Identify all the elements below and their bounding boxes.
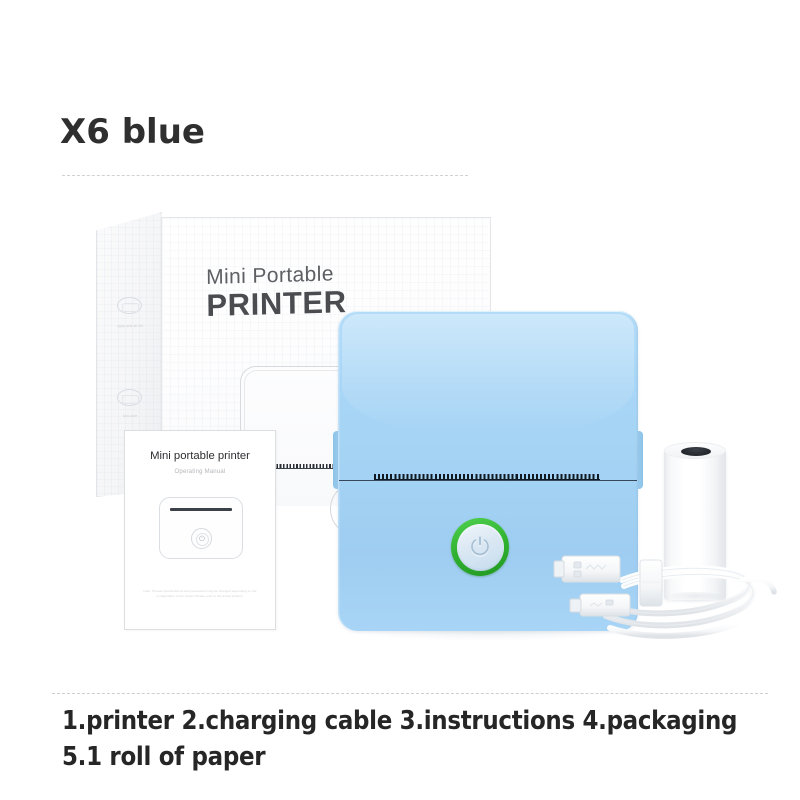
printer-lid-seam — [339, 480, 637, 481]
box-feature-badge-icon — [117, 389, 142, 406]
manual-printer-illustration: ⏻ — [159, 497, 243, 559]
paper-roll-core-hole — [681, 447, 711, 456]
usb-charging-cable — [546, 542, 778, 642]
power-button-face: ⏻ — [457, 524, 504, 571]
page-title: X6 blue — [60, 112, 205, 152]
manual-title: Mini portable printer — [125, 450, 275, 462]
cable-drawing — [546, 542, 778, 642]
micro-usb-connector — [570, 594, 630, 616]
manual-subtitle: Operating Manual — [125, 469, 275, 475]
usb-a-connector — [554, 556, 620, 582]
printer-gloss-highlight — [342, 314, 634, 434]
printer-power-button[interactable]: ⏻ — [451, 518, 509, 576]
power-icon: ⏻ — [457, 524, 504, 571]
divider-top — [62, 175, 468, 176]
printer-serrated-tear-edge-icon — [374, 474, 600, 480]
manual-art-power-icon: ⏻ — [198, 533, 207, 545]
box-feature-badge-icon — [117, 297, 142, 314]
manual-art-paper-slot — [170, 508, 232, 511]
box-product-line: PRINTER — [206, 285, 347, 322]
product-scene: cable and air ink Mini size Mini Portabl… — [0, 190, 800, 670]
divider-bottom — [52, 693, 768, 694]
package-contents-caption: 1.printer 2.charging cable 3.instruction… — [62, 703, 792, 775]
caption-line-2: 5.1 roll of paper — [62, 739, 792, 775]
manual-fine-print: Note: Product specifications and paramet… — [139, 589, 261, 598]
cable-tie-strap — [640, 560, 662, 606]
manual-art-power-button-outline: ⏻ — [191, 528, 212, 549]
paper-roll-top-surface — [664, 442, 726, 459]
instruction-manual: Mini portable printer Operating Manual ⏻… — [124, 430, 276, 630]
box-branding: Mini Portable PRINTER — [206, 262, 347, 322]
product-image-canvas: X6 blue cable and air ink Mini size Mini… — [0, 0, 800, 800]
caption-line-1: 1.printer 2.charging cable 3.instruction… — [62, 703, 792, 739]
